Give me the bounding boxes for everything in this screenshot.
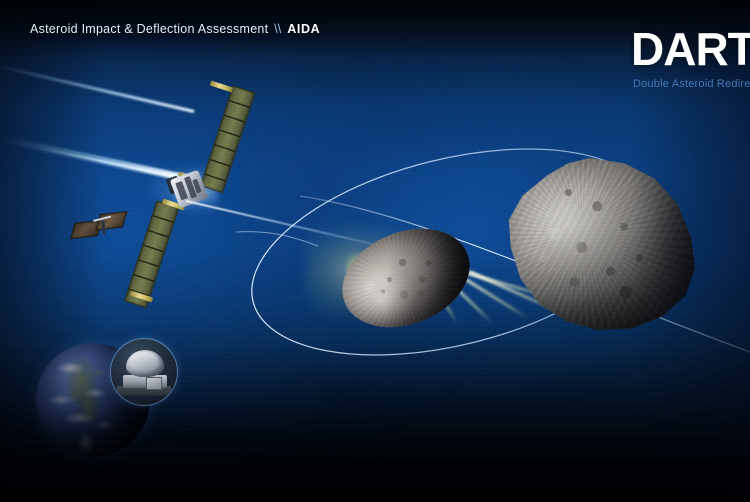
solar-panel-upper-cap	[210, 81, 233, 93]
page-title: Asteroid Impact & Deflection Assessment …	[30, 22, 320, 36]
logo-subtitle: Double Asteroid Redirection Test	[633, 78, 750, 90]
cubesat-debris	[71, 209, 130, 245]
title-acronym: AIDA	[287, 22, 320, 36]
solar-panel-upper	[200, 85, 256, 193]
mission-logo: DART Double Asteroid Redirection Test	[630, 24, 750, 104]
didymos-asteroid	[505, 158, 697, 330]
title-separator: \\	[274, 22, 281, 36]
ground-station-inset	[110, 338, 178, 406]
dart-spacecraft	[122, 82, 292, 312]
aida-illustration-frame: Asteroid Impact & Deflection Assessment …	[0, 0, 750, 502]
title-prefix: Asteroid Impact & Deflection Assessment	[30, 22, 268, 36]
asteroid-terminator	[505, 158, 697, 330]
logo-wordmark: DART	[631, 24, 750, 74]
station-equipment-box	[146, 377, 162, 390]
dish-rim	[129, 352, 159, 372]
